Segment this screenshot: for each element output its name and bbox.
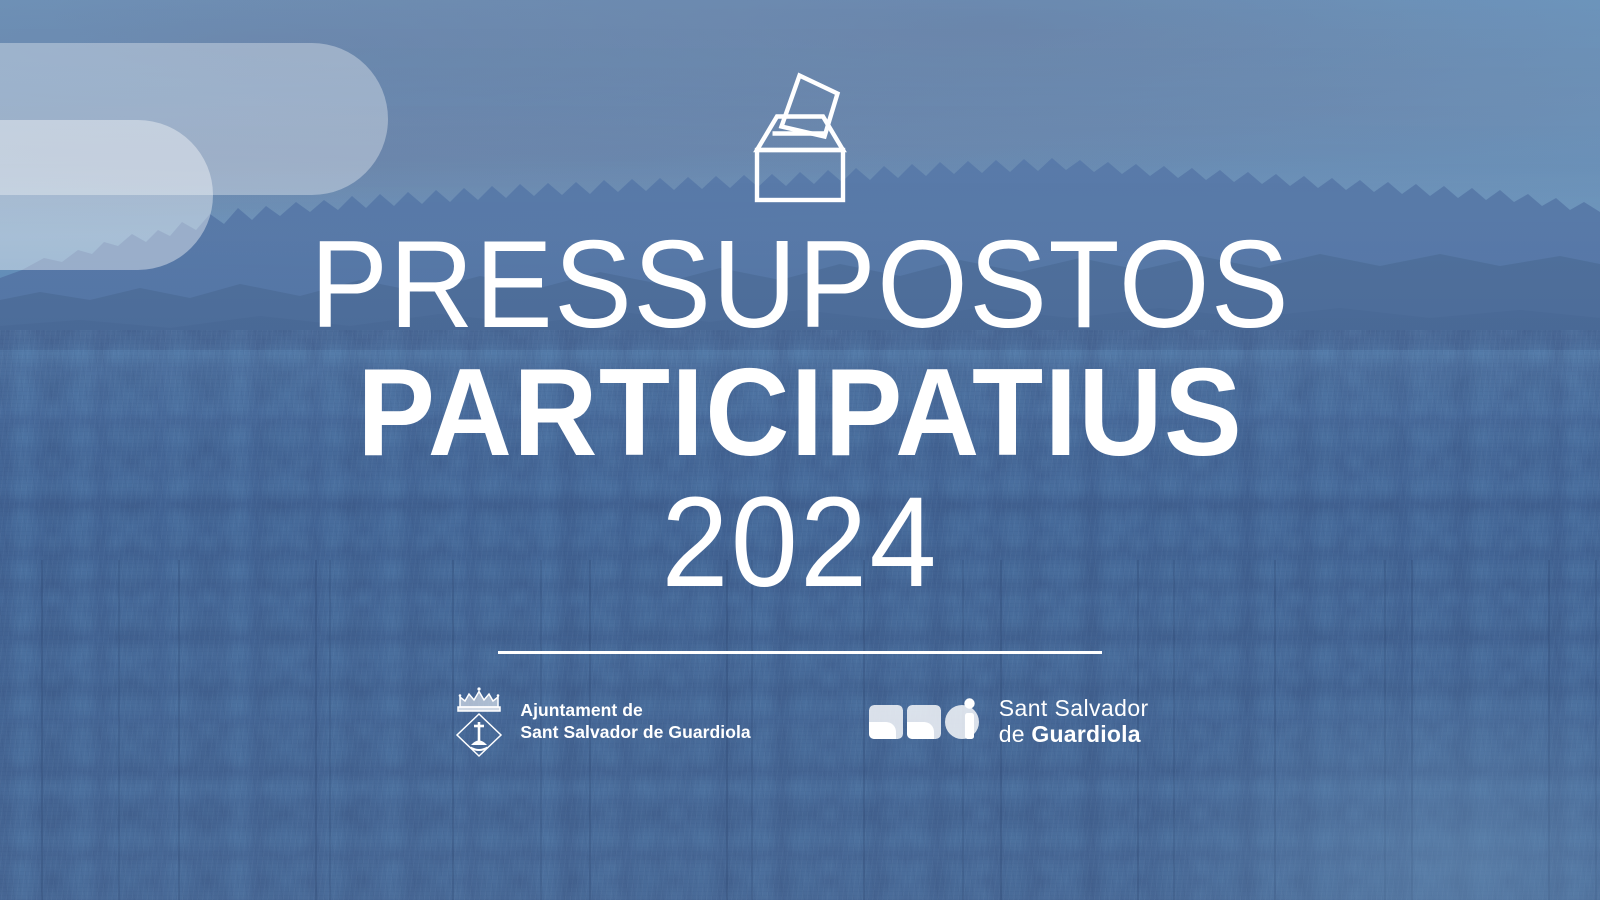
ssg-line-2: de Guardiola [999,721,1149,748]
page-title-year: 2024 [310,479,1290,607]
ballot-box-icon [745,64,855,204]
ssg-monogram-icon [869,695,985,747]
divider-rule [498,651,1102,654]
poster-title-block: PRESSUPOSTOS PARTICIPATIUS 2024 [279,226,1321,607]
poster-content: PRESSUPOSTOS PARTICIPATIUS 2024 [0,0,1600,900]
ajuntament-wordmark: Ajuntament de Sant Salvador de Guardiola [520,699,750,743]
logo-ssg: Sant Salvador de Guardiola [869,695,1149,748]
ssg-line-2-bold: Guardiola [1031,721,1140,747]
ajuntament-line-1: Ajuntament de [520,699,750,721]
logo-row: Ajuntament de Sant Salvador de Guardiola [451,684,1148,758]
page-title-line-1: PRESSUPOSTOS [310,226,1290,345]
ajuntament-line-2: Sant Salvador de Guardiola [520,721,750,743]
ssg-wordmark: Sant Salvador de Guardiola [999,695,1149,748]
logo-ajuntament: Ajuntament de Sant Salvador de Guardiola [451,684,750,758]
ssg-line-2-light: de [999,721,1032,747]
ssg-line-1: Sant Salvador [999,695,1149,722]
poster-canvas: PRESSUPOSTOS PARTICIPATIUS 2024 [0,0,1600,900]
page-title-line-2: PARTICIPATIUS [310,353,1290,473]
ajuntament-crest-icon [451,684,507,758]
